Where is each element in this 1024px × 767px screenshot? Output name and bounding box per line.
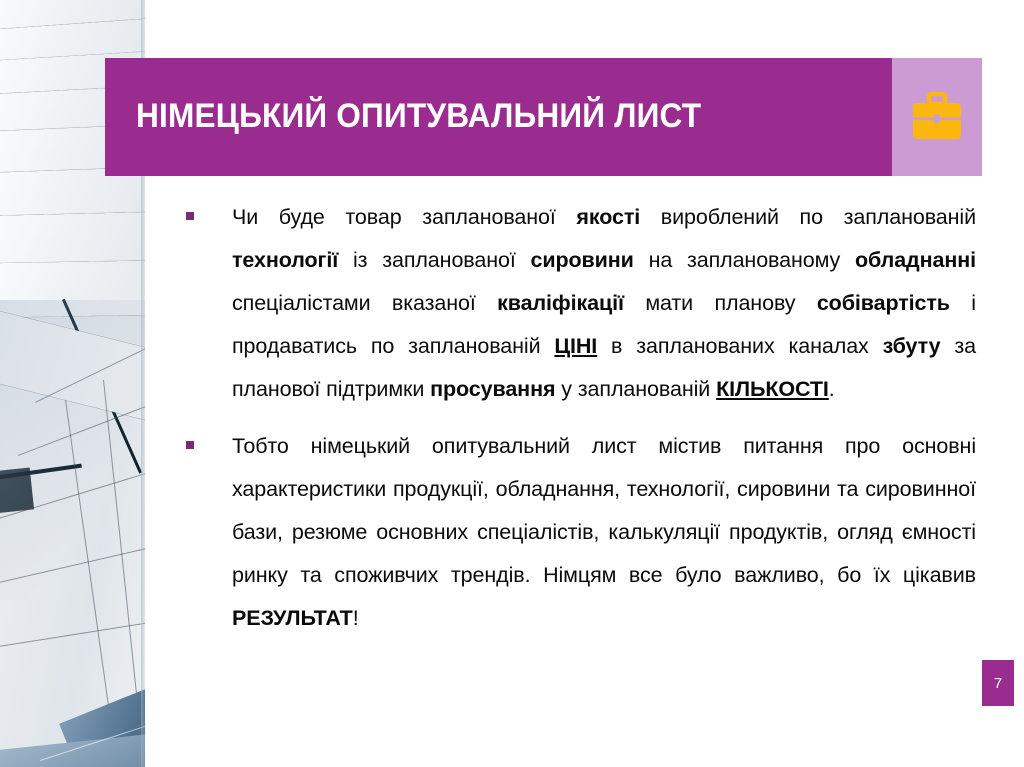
bullet-text-2: Тобто німецький опитувальний лист містив… xyxy=(232,425,976,640)
slide-body: Чи буде товар запланованої якості виробл… xyxy=(186,196,976,640)
page-number-badge: 7 xyxy=(982,660,1014,706)
bullet-marker xyxy=(186,196,232,220)
bullet-text-1: Чи буде товар запланованої якості виробл… xyxy=(232,196,976,411)
bullet-marker xyxy=(186,425,232,449)
slide-header: НІМЕЦЬКИЙ ОПИТУВАЛЬНИЙ ЛИСТ xyxy=(105,58,982,176)
header-title-panel: НІМЕЦЬКИЙ ОПИТУВАЛЬНИЙ ЛИСТ xyxy=(105,58,892,176)
list-item: Чи буде товар запланованої якості виробл… xyxy=(186,196,976,411)
slide-canvas: НІМЕЦЬКИЙ ОПИТУВАЛЬНИЙ ЛИСТ Чи буде това… xyxy=(0,0,1024,767)
photo-shading xyxy=(0,300,145,600)
header-icon-panel xyxy=(892,58,982,176)
list-item: Тобто німецький опитувальний лист містив… xyxy=(186,425,976,640)
photo-panel xyxy=(0,212,145,267)
briefcase-icon xyxy=(909,92,965,142)
page-title: НІМЕЦЬКИЙ ОПИТУВАЛЬНИЙ ЛИСТ xyxy=(136,96,701,137)
